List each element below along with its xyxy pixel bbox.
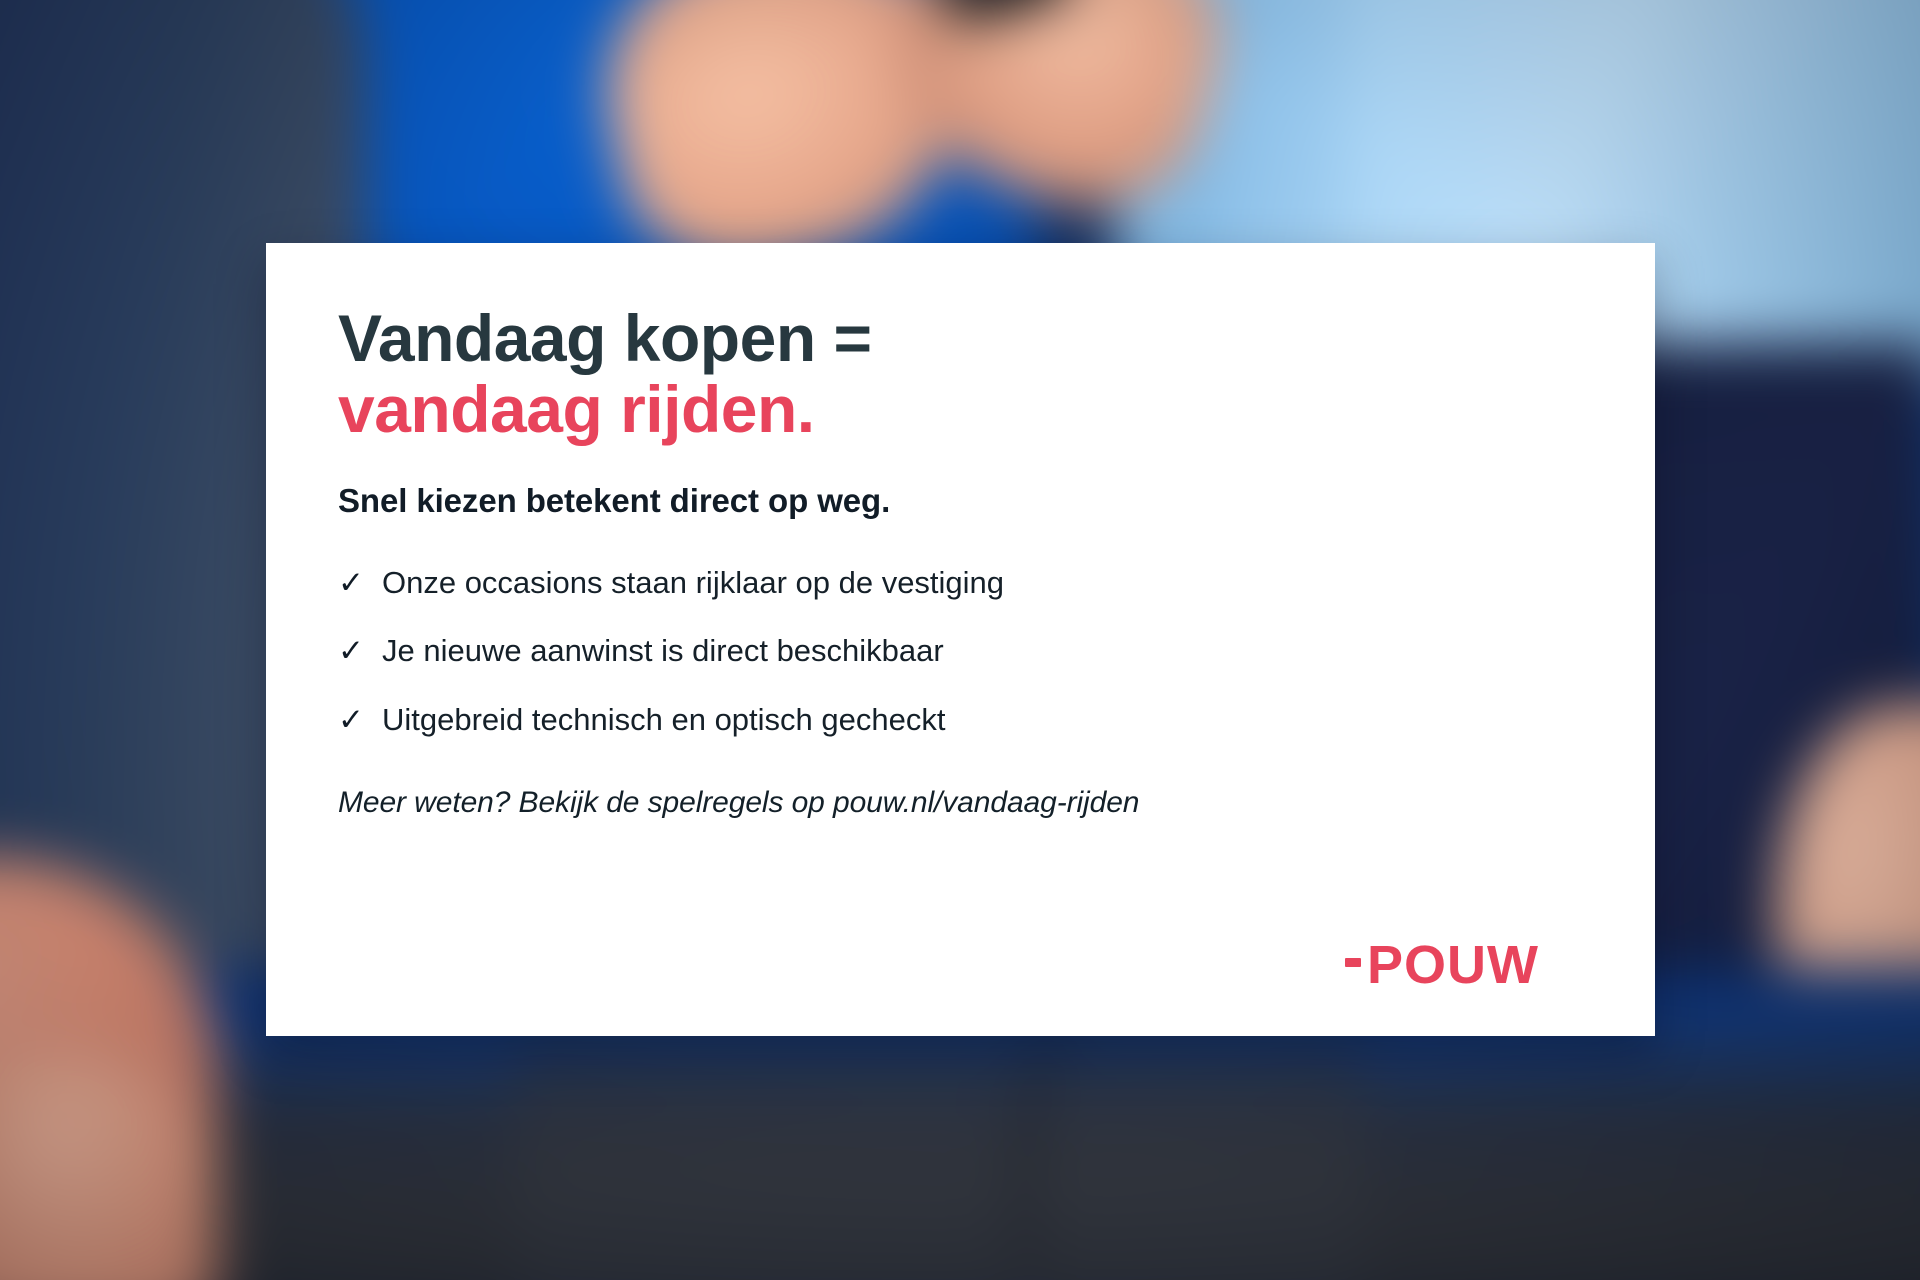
list-item-label: Onze occasions staan rijklaar op de vest…	[382, 564, 1004, 603]
headline-line-2: vandaag rijden.	[338, 374, 1583, 445]
logo-wordmark: POUW	[1367, 938, 1539, 992]
logo-dash-icon	[1345, 958, 1361, 967]
list-item: ✓ Uitgebreid technisch en optisch gechec…	[338, 701, 1583, 740]
check-icon: ✓	[338, 635, 364, 666]
promo-banner: Vandaag kopen = vandaag rijden. Snel kie…	[0, 0, 1920, 1280]
footnote-text: Meer weten? Bekijk de spelregels op pouw…	[338, 786, 1583, 820]
list-item: ✓ Onze occasions staan rijklaar op de ve…	[338, 564, 1583, 603]
pouw-logo[interactable]: POUW	[1345, 938, 1539, 992]
check-icon: ✓	[338, 567, 364, 598]
logo-row: POUW	[338, 938, 1583, 992]
benefits-list: ✓ Onze occasions staan rijklaar op de ve…	[338, 564, 1583, 740]
list-item-label: Uitgebreid technisch en optisch gecheckt	[382, 701, 946, 740]
list-item: ✓ Je nieuwe aanwinst is direct beschikba…	[338, 632, 1583, 671]
list-item-label: Je nieuwe aanwinst is direct beschikbaar	[382, 632, 944, 671]
message-card: Vandaag kopen = vandaag rijden. Snel kie…	[266, 243, 1655, 1036]
subheadline: Snel kiezen betekent direct op weg.	[338, 482, 1583, 520]
page-title: Vandaag kopen = vandaag rijden.	[338, 303, 1583, 446]
check-icon: ✓	[338, 704, 364, 735]
headline-line-1: Vandaag kopen =	[338, 301, 872, 375]
